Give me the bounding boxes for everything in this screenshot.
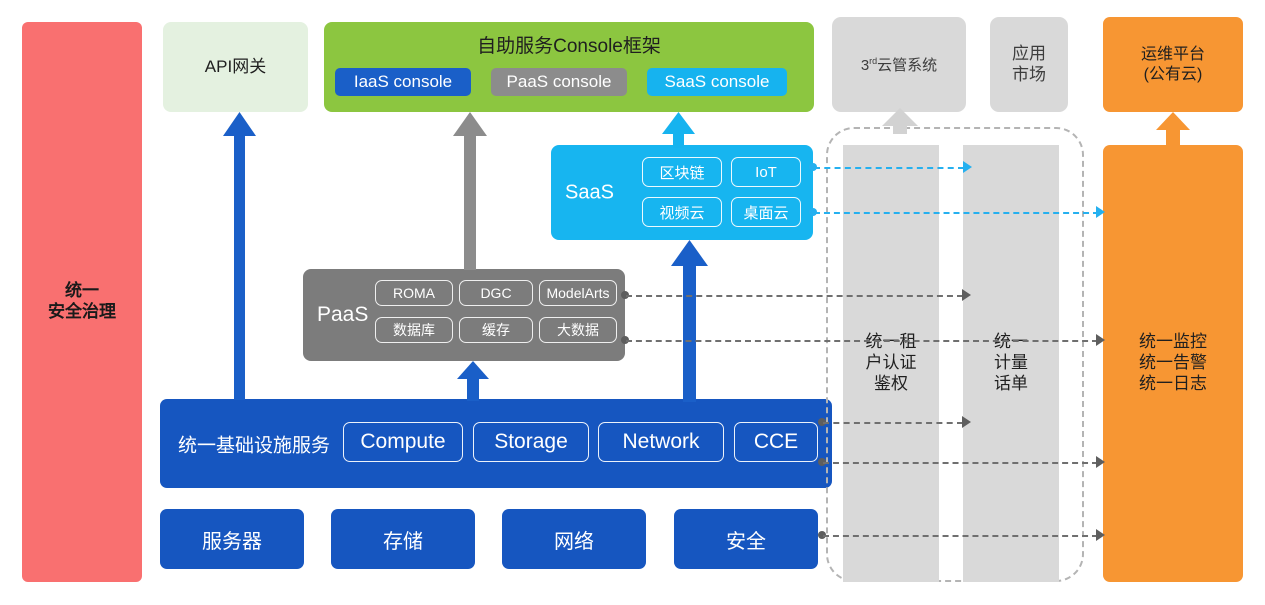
connector-arrowhead-infra-auth <box>962 416 971 428</box>
chip-iaas-console[interactable]: IaaS console <box>335 68 471 96</box>
hardware-box-server[interactable]: 服务器 <box>160 509 304 569</box>
api-gateway-box[interactable]: API网关 <box>163 22 308 112</box>
ops-monitoring-label: 统一监控 统一告警 统一日志 <box>1139 332 1207 394</box>
saas-service-video-cloud[interactable]: 视频云 <box>642 197 722 227</box>
paas-service-dgc[interactable]: DGC <box>459 280 533 306</box>
third-party-cloud-mgmt-box[interactable]: 3rd云管系统 <box>832 17 966 112</box>
arrow-paas-to-console <box>453 112 487 270</box>
connector-arrowhead-paas-ops <box>1096 334 1105 346</box>
saas-layer-box[interactable]: SaaS 区块链 IoT 视频云 桌面云 <box>551 145 813 240</box>
connector-paas-to-auth <box>626 295 963 297</box>
paas-service-roma[interactable]: ROMA <box>375 280 453 306</box>
connector-arrowhead-saas-auth <box>963 161 972 173</box>
saas-service-blockchain[interactable]: 区块链 <box>642 157 722 187</box>
hardware-box-storage[interactable]: 存储 <box>331 509 475 569</box>
third-party-label: 3rd云管系统 <box>861 54 937 75</box>
infra-component-compute[interactable]: Compute <box>343 422 463 462</box>
self-service-console-frame[interactable]: 自助服务Console框架 IaaS console PaaS console … <box>324 22 814 112</box>
paas-layer-label: PaaS <box>317 303 368 327</box>
arrow-saas-to-console <box>662 112 695 148</box>
paas-service-modelarts[interactable]: ModelArts <box>539 280 617 306</box>
architecture-diagram: 统一 安全治理 API网关 自助服务Console框架 IaaS console… <box>0 0 1265 605</box>
connector-paas-to-ops <box>626 340 1098 342</box>
console-frame-title: 自助服务Console框架 <box>324 31 814 58</box>
shared-service-auth-band[interactable]: 统一租 户认证 鉴权 <box>843 145 939 582</box>
app-market-label: 应用 市场 <box>1012 44 1046 85</box>
ops-platform-box[interactable]: 运维平台 (公有云) <box>1103 17 1243 112</box>
chip-saas-console[interactable]: SaaS console <box>647 68 787 96</box>
saas-layer-label: SaaS <box>565 181 614 204</box>
arrow-infra-to-paas <box>457 361 489 401</box>
infra-component-storage[interactable]: Storage <box>473 422 589 462</box>
unified-infrastructure-label: 统一基础设施服务 <box>178 430 330 457</box>
app-market-box[interactable]: 应用 市场 <box>990 17 1068 112</box>
chip-paas-console[interactable]: PaaS console <box>491 68 627 96</box>
connector-arrowhead-infra-ops <box>1096 456 1105 468</box>
infra-component-cce[interactable]: CCE <box>734 422 818 462</box>
unified-security-governance-panel[interactable]: 统一 安全治理 <box>22 22 142 582</box>
saas-service-iot[interactable]: IoT <box>731 157 801 187</box>
connector-infra-to-auth <box>823 422 963 424</box>
shared-service-billing-band[interactable]: 统一 计量 话单 <box>963 145 1059 582</box>
connector-saas-to-auth <box>814 167 964 169</box>
arrow-infra-to-api-gateway <box>223 112 256 400</box>
saas-service-desktop-cloud[interactable]: 桌面云 <box>731 197 801 227</box>
ops-platform-label: 运维平台 (公有云) <box>1141 45 1205 84</box>
connector-infra-to-ops <box>823 462 1098 464</box>
paas-service-database[interactable]: 数据库 <box>375 317 453 343</box>
arrow-ops-main-to-ops-top <box>1156 112 1190 145</box>
connector-arrowhead-hardware-ops <box>1096 529 1105 541</box>
ops-monitoring-panel[interactable]: 统一监控 统一告警 统一日志 <box>1103 145 1243 582</box>
arrow-infra-to-saas <box>671 240 708 402</box>
unified-security-governance-label: 统一 安全治理 <box>48 281 116 322</box>
hardware-box-security[interactable]: 安全 <box>674 509 818 569</box>
api-gateway-label: API网关 <box>205 57 266 78</box>
connector-arrowhead-paas-auth <box>962 289 971 301</box>
unified-infrastructure-bar[interactable]: 统一基础设施服务 Compute Storage Network CCE <box>160 399 832 488</box>
infra-component-network[interactable]: Network <box>598 422 724 462</box>
connector-saas-to-ops <box>814 212 1099 214</box>
connector-hardware-to-ops <box>823 535 1098 537</box>
connector-arrowhead-saas-ops <box>1096 206 1105 218</box>
hardware-box-network[interactable]: 网络 <box>502 509 646 569</box>
paas-layer-box[interactable]: PaaS ROMA DGC ModelArts 数据库 缓存 大数据 <box>303 269 625 361</box>
paas-service-cache[interactable]: 缓存 <box>459 317 533 343</box>
paas-service-bigdata[interactable]: 大数据 <box>539 317 617 343</box>
